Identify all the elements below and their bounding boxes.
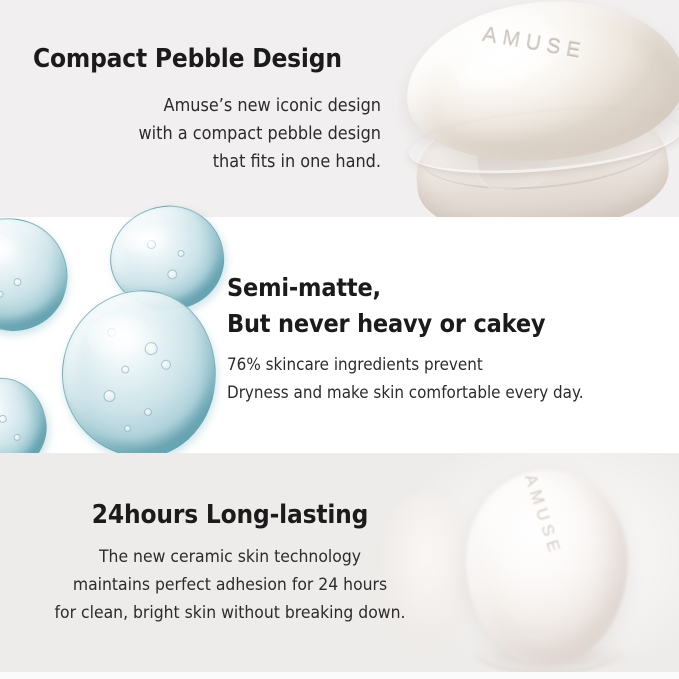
compact-standing-rim <box>474 626 620 674</box>
gel-bubble <box>124 425 132 433</box>
gel-bubble <box>161 359 172 370</box>
panel-3-body-line: maintains perfect adhesion for 24 hours <box>18 571 441 599</box>
panel-1-body-line: that fits in one hand. <box>30 148 381 176</box>
panel-3-body-line: for clean, bright skin without breaking … <box>18 599 441 627</box>
panel-2-heading-line: But never heavy or cakey <box>227 306 545 342</box>
gel-bubble <box>0 414 7 424</box>
panel-3-heading: 24hours Long-lasting <box>23 500 437 530</box>
product-feature-page: AMUSE Compact Pebble Design Amuse’s new … <box>0 0 679 679</box>
panel-1-body-line: Amuse’s new iconic design <box>30 92 381 120</box>
gel-bubble <box>13 433 21 441</box>
pebble-compact-product-image: AMUSE <box>398 0 679 217</box>
panel-1-body: Amuse’s new iconic design with a compact… <box>30 92 381 176</box>
gel-bubble <box>144 407 153 416</box>
gel-bubble <box>144 341 158 355</box>
gel-bubble <box>106 327 116 337</box>
gel-bubble <box>146 239 156 249</box>
panel-3-body: The new ceramic skin technology maintain… <box>18 543 441 627</box>
panel-1-heading: Compact Pebble Design <box>33 44 342 74</box>
panel-1-body-line: with a compact pebble design <box>30 120 381 148</box>
gel-bubble <box>0 290 4 298</box>
gel-bubble <box>166 269 177 280</box>
gel-bubble <box>13 278 22 287</box>
gel-bubble <box>177 249 185 257</box>
gel-bubble <box>102 390 115 403</box>
panel-3-body-line: The new ceramic skin technology <box>18 543 441 571</box>
panel-2-body-line: 76% skincare ingredients prevent <box>227 351 584 379</box>
panel-2-body: 76% skincare ingredients prevent Dryness… <box>227 351 584 407</box>
panel-compact-pebble-design: AMUSE Compact Pebble Design Amuse’s new … <box>0 0 679 217</box>
panel-2-heading-line: Semi-matte, <box>227 270 545 306</box>
panel-2-heading: Semi-matte, But never heavy or cakey <box>227 270 545 342</box>
pebble-compact-blurred-product-image: AMUSE <box>430 458 679 672</box>
bottom-white-strip <box>0 672 679 679</box>
gel-bubble <box>121 365 130 374</box>
panel-2-body-line: Dryness and make skin comfortable every … <box>227 379 584 407</box>
